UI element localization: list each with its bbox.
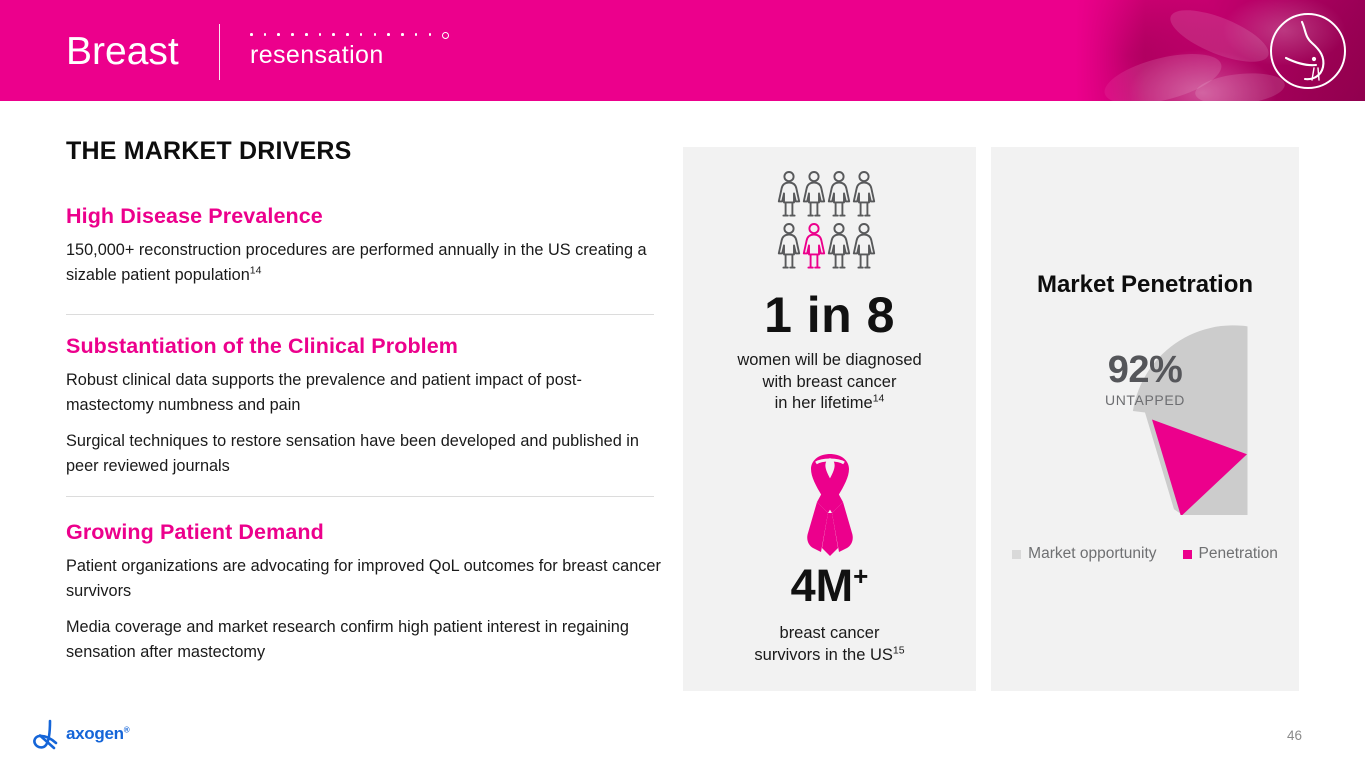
stat-value-number: 4M <box>791 560 854 611</box>
resensation-brand-lockup: resensation <box>250 33 410 69</box>
legend-label: Market opportunity <box>1028 545 1156 563</box>
woman-figure-highlighted <box>803 224 823 268</box>
brand-dot <box>401 33 404 36</box>
brand-dot <box>346 33 349 36</box>
registered-mark-icon <box>442 32 449 39</box>
legend-label: Penetration <box>1199 545 1278 563</box>
brand-dot <box>291 33 294 36</box>
legend-swatch-icon <box>1183 550 1192 559</box>
brand-dot <box>332 33 335 36</box>
axogen-logo: axogen® <box>30 718 129 750</box>
brand-dot <box>264 33 267 36</box>
brand-dot <box>415 33 418 36</box>
driver-heading: Substantiation of the Clinical Problem <box>66 334 666 359</box>
axogen-mark-icon <box>30 718 60 750</box>
caption-line: survivors in the US <box>754 646 892 664</box>
footnote-marker: 14 <box>873 393 885 405</box>
caption-line: in her lifetime <box>775 394 873 412</box>
brand-dot <box>319 33 322 36</box>
header-title: Breast <box>66 31 179 73</box>
brand-dot <box>305 33 308 36</box>
pink-awareness-ribbon-icon <box>792 449 868 565</box>
market-penetration-chart-panel: Market Penetration 92% UNTAPPED Market o… <box>991 147 1299 691</box>
section-divider <box>66 496 654 497</box>
stat-one-in-eight-value: 1 in 8 <box>683 287 976 343</box>
caption-line: women will be diagnosed <box>737 351 921 369</box>
brand-dot <box>360 33 363 36</box>
brand-dot <box>374 33 377 36</box>
driver-heading: High Disease Prevalence <box>66 204 666 229</box>
legend-item-market-opportunity[interactable]: Market opportunity <box>1012 545 1156 563</box>
driver-block-substantiation: Substantiation of the Clinical Problem R… <box>66 334 666 478</box>
stat-survivors-value: 4M+ <box>683 560 976 612</box>
footnote-marker: 14 <box>250 264 262 276</box>
woman-figure-row-2 <box>778 224 873 268</box>
slide-root: Breast resensation T <box>0 0 1365 768</box>
driver-heading: Growing Patient Demand <box>66 520 666 545</box>
page-title: THE MARKET DRIVERS <box>66 137 352 166</box>
footnote-marker: 15 <box>893 644 905 656</box>
driver-block-high-disease-prevalence: High Disease Prevalence 150,000+ reconst… <box>66 204 666 287</box>
caption-line: with breast cancer <box>763 373 897 391</box>
market-penetration-pie-chart <box>1043 310 1248 515</box>
header-divider <box>219 24 220 80</box>
chart-legend: Market opportunity Penetration <box>991 545 1299 563</box>
woman-figure-row-1 <box>778 172 873 216</box>
legend-item-penetration[interactable]: Penetration <box>1183 545 1278 563</box>
chart-title: Market Penetration <box>991 271 1299 299</box>
brand-dot-row <box>250 33 410 40</box>
hero-photo-fade <box>1075 0 1145 101</box>
eight-women-figures-icon <box>776 169 884 277</box>
header-hero-photo <box>1075 0 1365 101</box>
stat-survivors-caption: breast cancer survivors in the US15 <box>683 623 976 666</box>
registered-mark: ® <box>124 725 130 734</box>
caption-line: breast cancer <box>780 624 880 642</box>
brand-dot <box>387 33 390 36</box>
brand-dot <box>277 33 280 36</box>
breast-profile-circle-icon <box>1269 12 1347 90</box>
driver-paragraph-text: 150,000+ reconstruction procedures are p… <box>66 241 647 284</box>
page-number: 46 <box>1287 728 1302 743</box>
driver-paragraph: Media coverage and market research confi… <box>66 615 666 664</box>
axogen-wordmark: axogen® <box>66 724 129 744</box>
driver-paragraph: Patient organizations are advocating for… <box>66 554 666 603</box>
section-divider <box>66 314 654 315</box>
driver-block-growing-patient-demand: Growing Patient Demand Patient organizat… <box>66 520 666 664</box>
stat-one-in-eight-caption: women will be diagnosed with breast canc… <box>683 350 976 415</box>
stats-panel: 1 in 8 women will be diagnosed with brea… <box>683 147 976 691</box>
brand-dot <box>429 33 432 36</box>
header-band: Breast resensation <box>0 0 1365 101</box>
driver-paragraph: 150,000+ reconstruction procedures are p… <box>66 238 666 287</box>
stat-value-suffix: + <box>853 561 868 591</box>
driver-paragraph: Surgical techniques to restore sensation… <box>66 429 666 478</box>
brand-dot <box>250 33 253 36</box>
legend-swatch-icon <box>1012 550 1021 559</box>
driver-paragraph: Robust clinical data supports the preval… <box>66 368 666 417</box>
axogen-word-text: axogen <box>66 724 124 743</box>
